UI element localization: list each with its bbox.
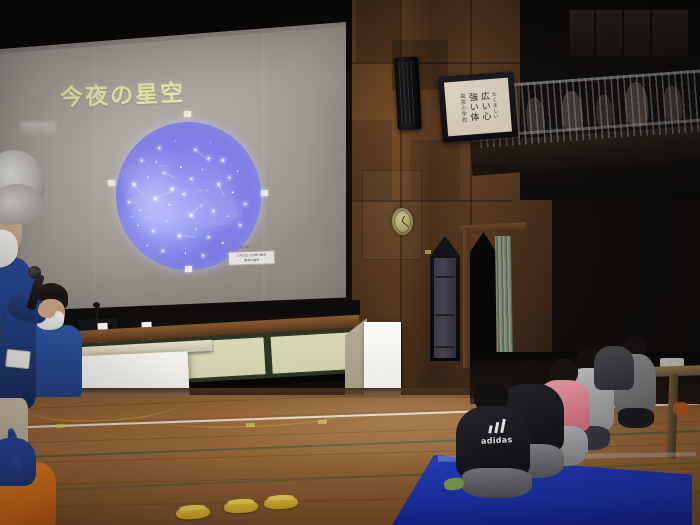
stage-side-door[interactable] (434, 258, 456, 358)
upper-window (570, 10, 688, 56)
wall-tag (425, 250, 431, 254)
starmap-cardinal-south (185, 266, 192, 272)
plaque-signature: 高宮小学校 (458, 93, 466, 123)
wall-speaker (394, 56, 422, 130)
starmap-cardinal-west (108, 180, 115, 186)
slide-title: 今夜の星空 (59, 74, 185, 113)
photo-scene: たくましい 広い心 強い体 高宮小学校 今夜の星空 (0, 0, 700, 525)
dark-alcove (470, 232, 496, 364)
adidas-brand-text: adidas (481, 435, 513, 446)
starmap-legend-caption: 星空図 (240, 245, 249, 249)
plaque-column-1: 広い心 (479, 91, 490, 122)
microphone-head-icon (28, 266, 41, 279)
name-badge (5, 349, 31, 369)
bag (0, 438, 66, 525)
plaque-column-2: 強い体 (467, 92, 478, 123)
starmap-cardinal-north (184, 111, 191, 117)
orange-object (673, 402, 689, 415)
starmap-cardinal-east (261, 190, 268, 196)
green-curtain (495, 236, 513, 368)
cable-tape (246, 423, 255, 427)
plaque-column-3: たくましい (491, 92, 498, 120)
cable-tape (318, 420, 327, 424)
list-item (594, 330, 634, 390)
door-post (463, 228, 470, 368)
starmap-legend-box: ○月○日 ○○時の星空 東京の星空 (228, 250, 275, 266)
calligraphy-plaque: たくましい 広い心 強い体 高宮小学校 (438, 71, 519, 143)
starmap-legend-line-2: 東京の星空 (231, 258, 272, 263)
